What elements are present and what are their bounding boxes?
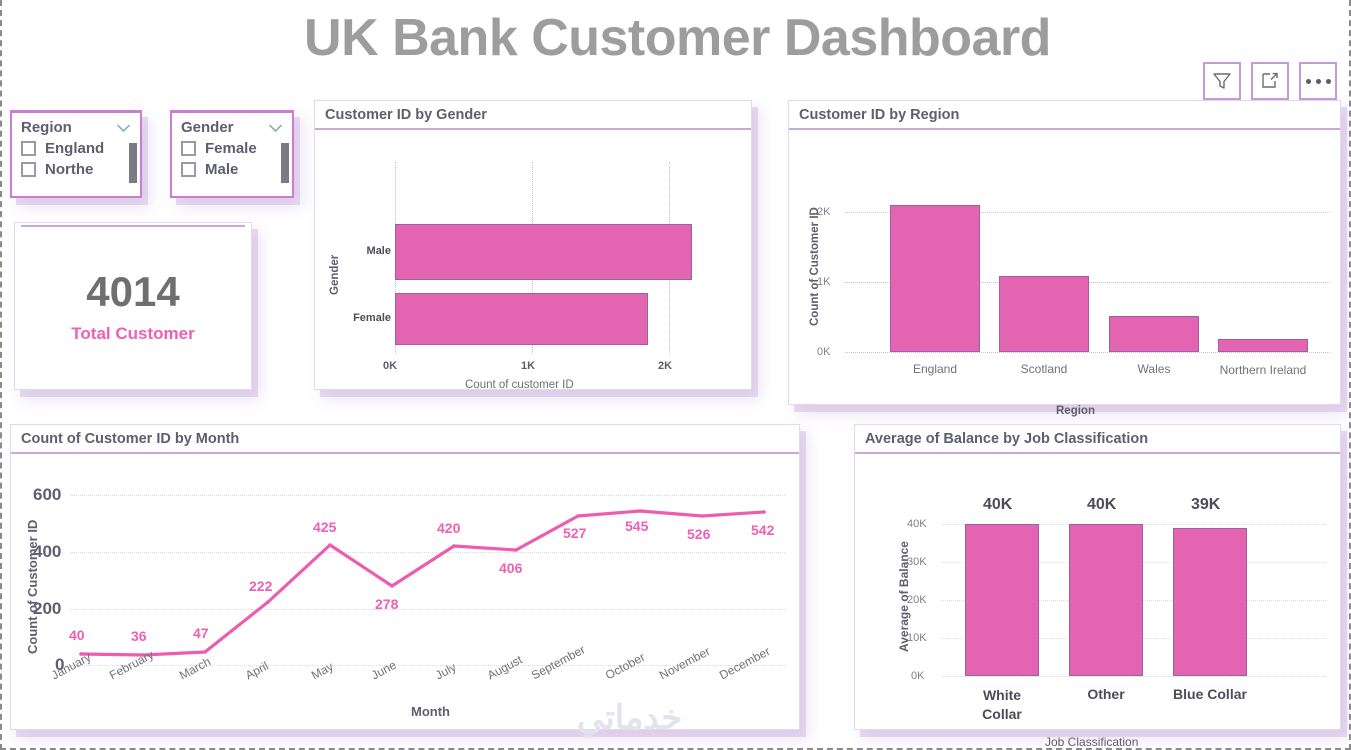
data-label-september: 527 — [563, 525, 586, 541]
category-label-england: England — [885, 362, 985, 376]
data-label-august: 406 — [499, 560, 522, 576]
bar-blue-collar[interactable] — [1173, 528, 1247, 676]
data-label-january: 40 — [69, 627, 85, 643]
kpi-label: Total Customer — [71, 324, 194, 344]
category-label-other: Other — [1066, 686, 1146, 702]
x-tick-0: 0K — [383, 360, 397, 372]
checkbox-icon[interactable] — [181, 141, 196, 156]
slicer-gender-label: Gender — [181, 119, 234, 136]
bar-northern-ireland[interactable] — [1218, 339, 1308, 352]
y-axis-title: Average of Balance — [897, 541, 911, 652]
x-axis-title: Month — [411, 704, 450, 719]
chart-customer-id-by-gender[interactable]: Customer ID by Gender Male Female Gender… — [314, 100, 752, 390]
data-label-july: 420 — [437, 520, 460, 536]
y-tick-4: 40K — [907, 518, 927, 530]
data-label-april: 222 — [249, 578, 272, 594]
chart-average-of-balance-by-job-classification[interactable]: Average of Balance by Job Classification… — [854, 424, 1341, 730]
y-tick-0: 0K — [817, 346, 830, 358]
gridline — [845, 352, 1330, 353]
slicer-region-item-0-label: England — [45, 140, 104, 157]
chevron-down-icon[interactable] — [268, 123, 283, 133]
x-axis-title: Count of customer ID — [465, 379, 574, 391]
x-tick-2: 2K — [658, 360, 672, 372]
checkbox-icon[interactable] — [21, 162, 36, 177]
data-label-other: 40K — [1087, 496, 1116, 514]
data-label-march: 47 — [193, 625, 209, 641]
header-icon-group — [1203, 62, 1337, 100]
page-title: UK Bank Customer Dashboard — [2, 8, 1351, 68]
chart-title: Count of Customer ID by Month — [11, 425, 799, 454]
kpi-card-total-customer[interactable]: 4014 Total Customer — [14, 222, 252, 390]
expand-glyph — [1260, 71, 1280, 91]
category-label-blue-collar: Blue Collar — [1162, 686, 1258, 702]
data-label-may: 425 — [313, 519, 336, 535]
slicer-region[interactable]: Region England Northe — [10, 110, 142, 198]
chart-plot-area: 2K 1K 0K Count of Customer ID England Sc… — [789, 130, 1340, 398]
slicer-region-item-0[interactable]: England — [12, 138, 140, 159]
slicer-gender-item-0[interactable]: Female — [172, 138, 292, 159]
slicer-gender[interactable]: Gender Female Male — [170, 110, 294, 198]
bar-female[interactable] — [395, 293, 648, 345]
chart-customer-id-by-region[interactable]: Customer ID by Region 2K 1K 0K Count of … — [788, 100, 1341, 405]
data-label-june: 278 — [375, 596, 398, 612]
data-label-december: 542 — [751, 522, 774, 538]
data-label-november: 526 — [687, 526, 710, 542]
chevron-down-icon[interactable] — [116, 123, 131, 133]
chart-plot-area: 600 400 200 0 Count of Customer ID 40 36… — [11, 454, 799, 723]
chart-plot-area: 40K 30K 20K 10K 0K Average of Balance 40… — [855, 454, 1340, 723]
ellipsis-glyph — [1306, 79, 1331, 84]
y-tick-0: 0K — [911, 670, 924, 682]
slicer-region-label: Region — [21, 119, 72, 136]
slicer-region-scrollbar[interactable] — [129, 143, 137, 183]
data-label-white-collar: 40K — [983, 496, 1012, 514]
data-label-october: 545 — [625, 518, 648, 534]
bar-scotland[interactable] — [999, 276, 1089, 352]
slicer-gender-item-1[interactable]: Male — [172, 159, 292, 180]
x-tick-1: 1K — [521, 360, 535, 372]
data-label-february: 36 — [131, 628, 147, 644]
slicer-gender-item-0-label: Female — [205, 140, 257, 157]
dashboard-page: UK Bank Customer Dashboard Region Eng — [0, 0, 1351, 750]
chart-title: Customer ID by Region — [789, 101, 1340, 130]
chart-plot-area: Male Female Gender 0K 1K 2K Count of cus… — [315, 130, 751, 383]
slicer-region-item-1[interactable]: Northe — [12, 159, 140, 180]
line-series-count-of-customer-id — [11, 454, 801, 723]
kpi-value: 4014 — [86, 268, 179, 316]
slicer-gender-scrollbar[interactable] — [281, 143, 289, 183]
data-label-blue-collar: 39K — [1191, 496, 1220, 514]
y-axis-title: Gender — [329, 255, 341, 295]
x-axis-title: Region — [1056, 405, 1095, 417]
checkbox-icon[interactable] — [21, 141, 36, 156]
funnel-glyph — [1212, 71, 1232, 91]
slicer-gender-item-1-label: Male — [205, 161, 238, 178]
more-options-icon[interactable] — [1299, 62, 1337, 100]
category-label-wales: Wales — [1104, 362, 1204, 376]
slicer-region-header[interactable]: Region — [12, 113, 140, 138]
bar-wales[interactable] — [1109, 316, 1199, 352]
chart-title: Average of Balance by Job Classification — [855, 425, 1340, 454]
chart-title: Customer ID by Gender — [315, 101, 751, 130]
category-label-white-collar: White Collar — [962, 686, 1042, 724]
category-label-female: Female — [329, 312, 391, 324]
focus-mode-icon[interactable] — [1251, 62, 1289, 100]
category-label-scotland: Scotland — [994, 362, 1094, 376]
slicer-region-item-1-label: Northe — [45, 161, 93, 178]
filter-icon[interactable] — [1203, 62, 1241, 100]
category-label-male: Male — [335, 245, 391, 257]
category-label-northern-ireland: Northern Ireland — [1213, 362, 1313, 378]
checkbox-icon[interactable] — [181, 162, 196, 177]
y-axis-title: Count of Customer ID — [809, 207, 821, 326]
kpi-card-rule — [21, 225, 245, 227]
bar-white-collar[interactable] — [965, 524, 1039, 676]
bar-male[interactable] — [395, 224, 692, 280]
bar-england[interactable] — [890, 205, 980, 352]
slicer-gender-header[interactable]: Gender — [172, 113, 292, 138]
gridline — [941, 676, 1326, 677]
chart-count-of-customer-id-by-month[interactable]: Count of Customer ID by Month 600 400 20… — [10, 424, 800, 730]
x-axis-title: Job Classification — [1045, 735, 1138, 749]
bar-other[interactable] — [1069, 524, 1143, 676]
